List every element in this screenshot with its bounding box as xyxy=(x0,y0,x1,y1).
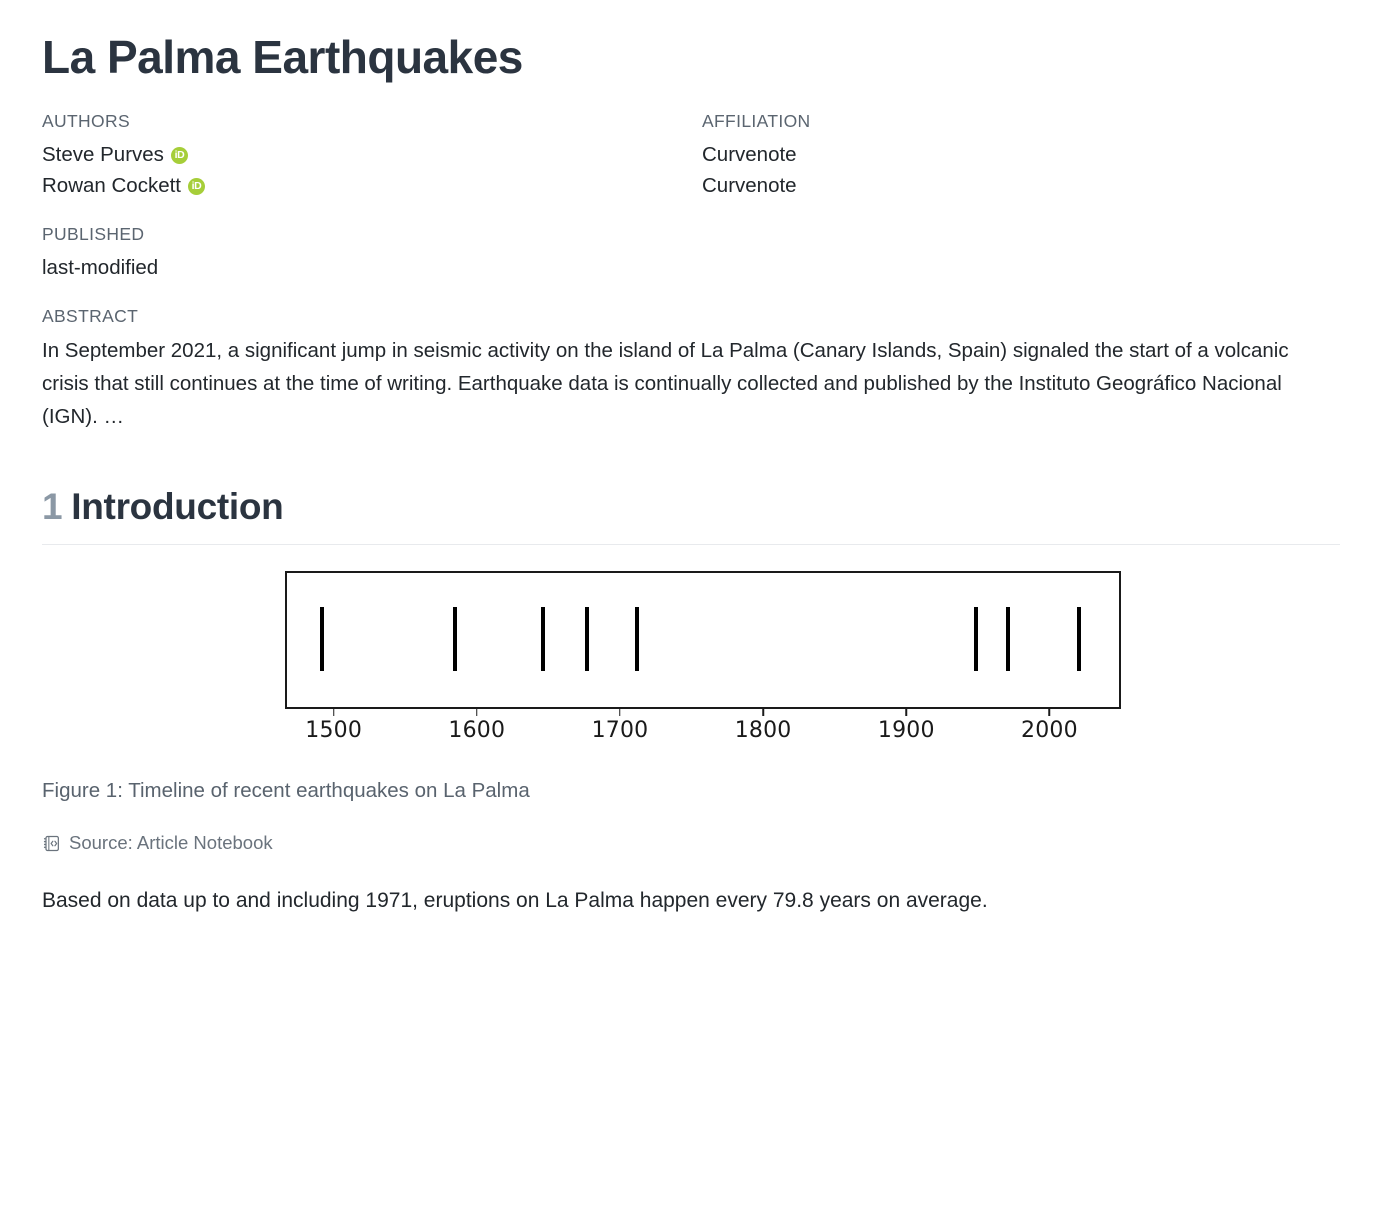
affiliation-entry: Curvenote xyxy=(702,170,1340,201)
event-marker xyxy=(453,607,457,671)
author-name: Steve Purves xyxy=(42,139,164,170)
axis-tick xyxy=(762,709,764,716)
axis-tick-label: 1900 xyxy=(878,718,935,743)
published-value: last-modified xyxy=(42,252,1340,283)
orcid-icon[interactable]: iD xyxy=(188,178,205,195)
event-marker xyxy=(974,607,978,671)
event-marker xyxy=(585,607,589,671)
figure-source-label: Source: Article Notebook xyxy=(69,832,273,854)
event-marker xyxy=(1077,607,1081,671)
affiliation-label: AFFILIATION xyxy=(702,110,1340,134)
axis-tick-label: 2000 xyxy=(1021,718,1078,743)
axis-tick xyxy=(619,709,621,716)
page-title: La Palma Earthquakes xyxy=(42,30,1340,84)
abstract-block: ABSTRACT In September 2021, a significan… xyxy=(42,305,1340,433)
abstract-text: In September 2021, a significant jump in… xyxy=(42,334,1340,434)
document-page: La Palma Earthquakes AUTHORS Steve Purve… xyxy=(0,0,1382,1208)
authors-column: AUTHORS Steve Purves iD Rowan Cockett iD xyxy=(42,110,702,201)
axis-tick xyxy=(333,709,335,716)
figure-source[interactable]: Source: Article Notebook xyxy=(42,832,1340,854)
frontmatter-grid: AUTHORS Steve Purves iD Rowan Cockett iD… xyxy=(42,110,1340,201)
body-paragraph: Based on data up to and including 1971, … xyxy=(42,884,1292,918)
axis-tick-label: 1500 xyxy=(305,718,362,743)
notebook-code-icon xyxy=(42,834,61,853)
authors-label: AUTHORS xyxy=(42,110,702,134)
affiliation-column: AFFILIATION Curvenote Curvenote xyxy=(702,110,1340,201)
timeline-plot: 150016001700180019002000 xyxy=(285,571,1121,746)
axis-tick-label: 1700 xyxy=(592,718,649,743)
author-entry: Rowan Cockett iD xyxy=(42,170,702,201)
axis-tick xyxy=(906,709,908,716)
event-marker xyxy=(1006,607,1010,671)
published-block: PUBLISHED last-modified xyxy=(42,223,1340,283)
axis-tick xyxy=(476,709,478,716)
axis-tick-label: 1800 xyxy=(735,718,792,743)
author-entry: Steve Purves iD xyxy=(42,139,702,170)
axis-tick-label: 1600 xyxy=(448,718,505,743)
event-marker xyxy=(635,607,639,671)
section-heading-introduction: 1Introduction xyxy=(42,485,1340,544)
event-marker xyxy=(541,607,545,671)
section-number: 1 xyxy=(42,486,62,527)
section-title: Introduction xyxy=(71,486,283,527)
plot-frame xyxy=(285,571,1121,709)
orcid-icon[interactable]: iD xyxy=(171,147,188,164)
abstract-label: ABSTRACT xyxy=(42,305,1340,329)
author-name: Rowan Cockett xyxy=(42,170,181,201)
figure-1: 150016001700180019002000 Figure 1: Timel… xyxy=(42,571,1340,855)
published-label: PUBLISHED xyxy=(42,223,1340,247)
figure-caption: Figure 1: Timeline of recent earthquakes… xyxy=(42,776,1340,807)
affiliation-entry: Curvenote xyxy=(702,139,1340,170)
axis-tick xyxy=(1049,709,1051,716)
event-marker xyxy=(320,607,324,671)
